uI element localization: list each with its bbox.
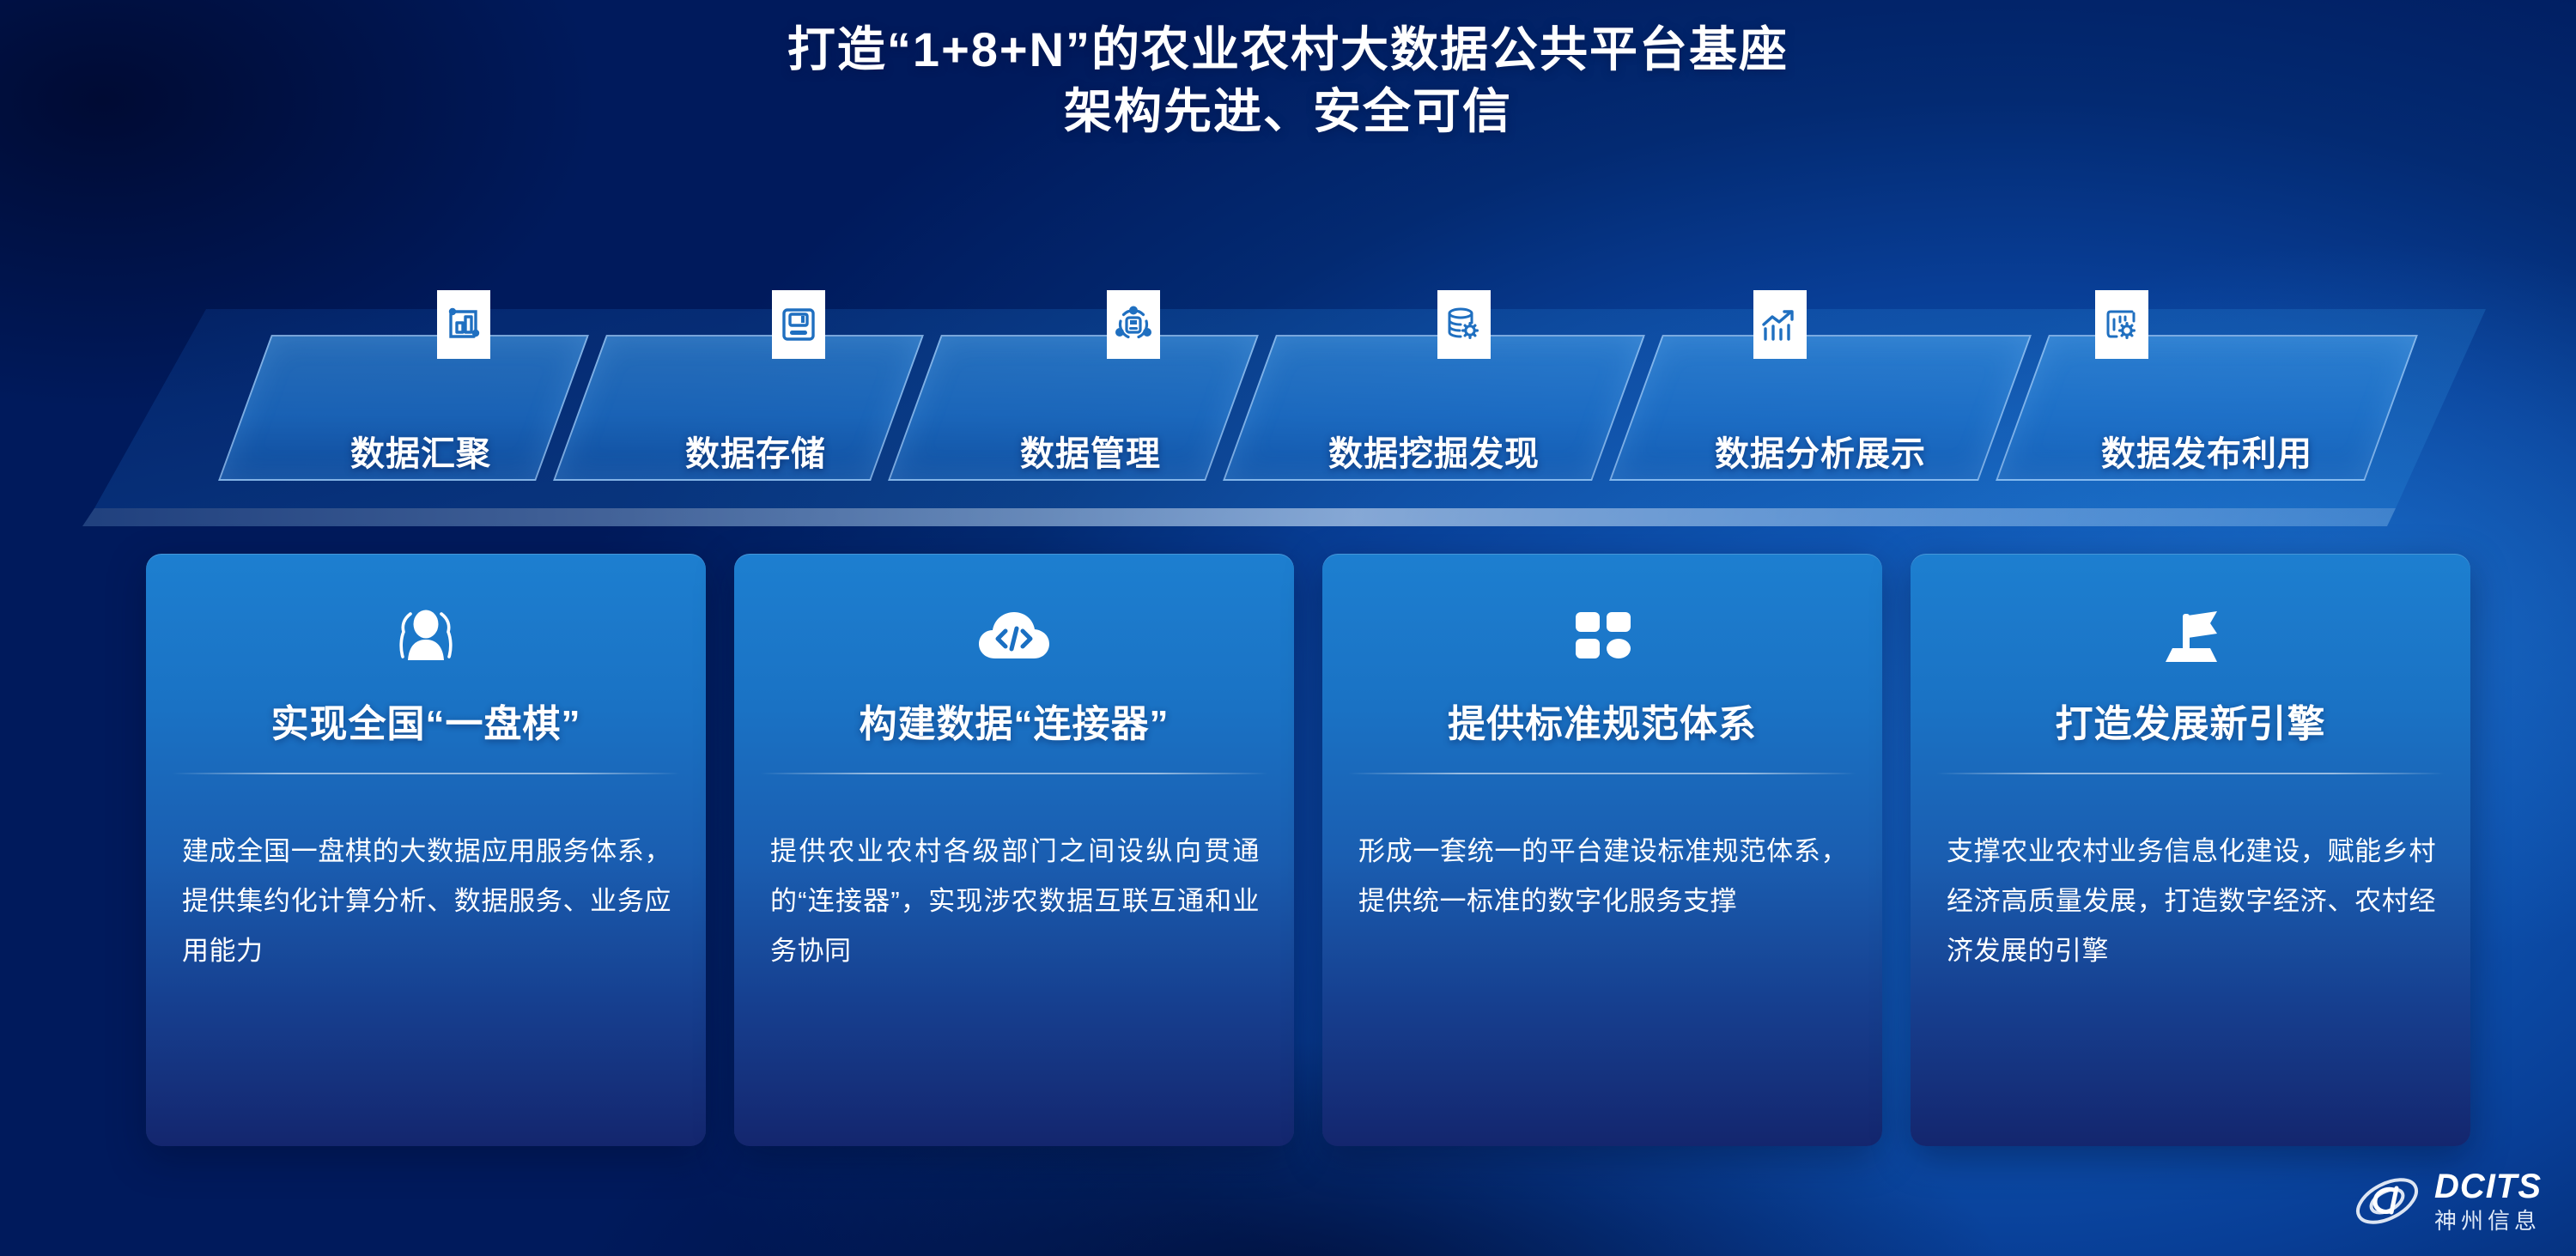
pipeline-step-3-label: 数据管理 (966, 424, 1215, 484)
feature-card-2-divider (760, 773, 1268, 774)
people-group-icon (146, 604, 706, 670)
feature-card-1-desc: 建成全国一盘棋的大数据应用服务体系，提供集约化计算分析、数据服务、业务应用能力 (182, 827, 671, 976)
feature-card-2-title: 构建数据“连接器” (734, 693, 1294, 748)
pipeline-step-4-label: 数据挖掘发现 (1284, 424, 1584, 484)
database-gear-icon (1437, 290, 1491, 359)
bar-chart-node-icon (437, 290, 490, 359)
pipeline-step-5-label: 数据分析展示 (1670, 424, 1971, 484)
flag-icon (1911, 604, 2470, 670)
feature-card-2[interactable]: 构建数据“连接器” 提供农业农村各级部门之间设纵向贯通的“连接器”，实现涉农数据… (734, 554, 1294, 1146)
pipeline-step-2-label: 数据存储 (631, 424, 880, 484)
feature-card-3-divider (1348, 773, 1856, 774)
logo-en-text: DCITS (2434, 1169, 2542, 1204)
feature-card-1-title: 实现全国“一盘棋” (146, 693, 706, 748)
feature-card-4-desc: 支撑农业农村业务信息化建设，赋能乡村经济高质量发展，打造数字经济、农村经济发展的… (1947, 827, 2436, 976)
feature-card-1[interactable]: 实现全国“一盘棋” 建成全国一盘棋的大数据应用服务体系，提供集约化计算分析、数据… (146, 554, 706, 1146)
floppy-disk-icon (772, 290, 825, 359)
pipeline-step-1-label: 数据汇聚 (296, 424, 545, 484)
logo-cn-text: 神州信息 (2434, 1210, 2542, 1232)
node-network-server-icon (1107, 290, 1160, 359)
feature-card-3[interactable]: 提供标准规范体系 形成一套统一的平台建设标准规范体系，提供统一标准的数字化服务支… (1322, 554, 1882, 1146)
four-blocks-icon (1322, 604, 1882, 670)
title-line-2: 架构先进、安全可信 (0, 81, 2576, 143)
cloud-code-icon (734, 604, 1294, 670)
feature-card-3-title: 提供标准规范体系 (1322, 693, 1882, 748)
feature-card-4[interactable]: 打造发展新引擎 支撑农业农村业务信息化建设，赋能乡村经济高质量发展，打造数字经济… (1911, 554, 2470, 1146)
page-title: 打造“1+8+N”的农业农村大数据公共平台基座 架构先进、安全可信 (0, 19, 2576, 143)
feature-card-1-divider (172, 773, 680, 774)
feature-card-3-desc: 形成一套统一的平台建设标准规范体系，提供统一标准的数字化服务支撑 (1358, 827, 1848, 926)
pipeline-ribbon: 数据汇聚 数据存储 数据管理 (0, 283, 2576, 532)
dcits-logo: DCITS 神州信息 (2352, 1169, 2542, 1232)
trend-bar-chart-icon (1753, 290, 1807, 359)
title-line-1: 打造“1+8+N”的农业农村大数据公共平台基座 (0, 19, 2576, 81)
feature-card-2-desc: 提供农业农村各级部门之间设纵向贯通的“连接器”，实现涉农数据互联互通和业务协同 (770, 827, 1260, 976)
feature-card-4-divider (1936, 773, 2445, 774)
dcits-swirl-logo-icon (2352, 1170, 2422, 1232)
report-gear-icon (2095, 290, 2148, 359)
feature-card-4-title: 打造发展新引擎 (1911, 693, 2470, 748)
pipeline-step-6-label: 数据发布利用 (2057, 424, 2357, 484)
